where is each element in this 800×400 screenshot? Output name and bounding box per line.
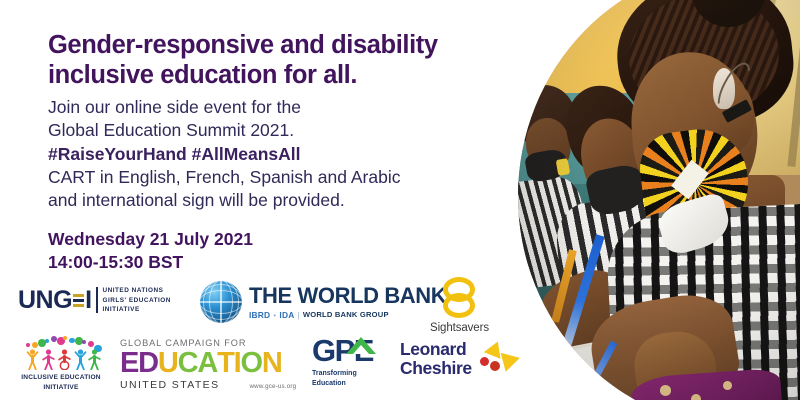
iei-dot xyxy=(51,336,57,342)
logo-inclusive-education-initiative: INCLUSIVE EDUCATION INITIATIVE xyxy=(18,334,104,392)
gpe-wordmark: GPE xyxy=(312,335,373,366)
iei-name-line-2: INITIATIVE xyxy=(21,383,101,393)
accessibility-line-2: and international sign will be provided. xyxy=(48,189,508,212)
photo-canvas xyxy=(498,0,800,400)
world-bank-text: THE WORLD BANK IBRD • IDA | WORLD BANK G… xyxy=(249,284,446,319)
leonard-cheshire-name: Leonard Cheshire xyxy=(400,340,472,377)
ungei-subtitle-line-1: UNITED NATIONS xyxy=(103,286,171,296)
world-bank-ibrd: IBRD xyxy=(249,310,270,320)
accessibility-line-1: CART in English, French, Spanish and Ara… xyxy=(48,166,508,189)
world-bank-ida: IDA xyxy=(279,310,294,320)
event-promo-poster: Gender-responsive and disability inclusi… xyxy=(0,0,800,400)
gce-letter: O xyxy=(241,349,262,378)
logo-ungei: UNGI UNITED NATIONS GIRLS' EDUCATION INI… xyxy=(18,286,171,315)
gce-letter: T xyxy=(217,349,234,378)
ungei-letters: UNG xyxy=(18,288,72,313)
description-line-1: Join our online side event for the xyxy=(48,96,508,119)
gce-letter: A xyxy=(197,349,217,378)
leonard-cheshire-shapes-icon xyxy=(476,341,516,377)
ungei-divider xyxy=(96,287,98,313)
ungei-subtitle-line-2: GIRLS' EDUCATION xyxy=(103,296,171,306)
world-bank-subtitle: IBRD • IDA | WORLD BANK GROUP xyxy=(249,310,446,320)
iei-figure xyxy=(58,349,71,370)
iei-name: INCLUSIVE EDUCATION INITIATIVE xyxy=(21,373,101,392)
event-description: Join our online side event for the Globa… xyxy=(48,96,508,212)
gpe-tagline-line-1: Transforming xyxy=(312,369,357,379)
iei-dot xyxy=(69,338,75,344)
gce-letter: E xyxy=(120,349,138,378)
gce-letter: C xyxy=(178,349,198,378)
ungei-wordmark: UNGI xyxy=(18,288,92,313)
logo-sightsavers: Sightsavers xyxy=(430,277,489,334)
logo-gpe: GPE Transforming Education xyxy=(312,335,373,389)
world-bank-pipe: | xyxy=(297,310,299,320)
gce-letter: U xyxy=(158,349,178,378)
iei-name-line-1: INCLUSIVE EDUCATION xyxy=(21,373,101,383)
iei-figure xyxy=(88,349,101,370)
iei-figure xyxy=(26,349,39,370)
gpe-chevron-icon xyxy=(346,337,376,354)
iei-figure xyxy=(42,349,55,370)
iei-dot xyxy=(82,340,86,344)
iei-dot xyxy=(26,343,30,347)
globe-icon xyxy=(200,281,242,323)
ungei-subtitle: UNITED NATIONS GIRLS' EDUCATION INITIATI… xyxy=(103,286,171,315)
logo-world-bank: THE WORLD BANK IBRD • IDA | WORLD BANK G… xyxy=(200,281,446,323)
iei-dot xyxy=(32,342,38,348)
logo-row-secondary: INCLUSIVE EDUCATION INITIATIVE GLOBAL CA… xyxy=(14,334,524,394)
event-datetime: Wednesday 21 July 2021 14:00-15:30 BST xyxy=(48,228,468,275)
gce-url: www.gce-us.org xyxy=(249,383,296,391)
logo-row-primary: UNGI UNITED NATIONS GIRLS' EDUCATION INI… xyxy=(18,281,518,333)
iei-figure xyxy=(74,349,87,370)
world-bank-group: WORLD BANK GROUP xyxy=(303,310,389,319)
leonard-cheshire-line-1: Leonard xyxy=(400,340,472,359)
ungei-e-glyph xyxy=(73,294,84,307)
hashtags: #RaiseYourHand #AllMeansAll xyxy=(48,143,508,166)
photo-vignette xyxy=(498,0,800,400)
sightsavers-name: Sightsavers xyxy=(430,322,489,334)
world-bank-name: THE WORLD BANK xyxy=(249,284,446,307)
gpe-tagline: Transforming Education xyxy=(312,369,357,389)
logo-global-campaign-for-education: GLOBAL CAMPAIGN FOR EDUCATION UNITED STA… xyxy=(120,338,296,391)
ungei-subtitle-line-3: INITIATIVE xyxy=(103,305,171,315)
world-bank-bullet: • xyxy=(273,310,276,320)
classroom-photo xyxy=(498,0,800,400)
iei-dot xyxy=(45,339,49,343)
gce-letter: D xyxy=(138,349,158,378)
gce-letter: N xyxy=(262,349,282,378)
gce-wordmark: EDUCATION xyxy=(120,349,282,378)
gce-country: UNITED STATES xyxy=(120,379,219,391)
page-title: Gender-responsive and disability inclusi… xyxy=(48,30,488,90)
logo-leonard-cheshire: Leonard Cheshire xyxy=(400,340,516,377)
sightsavers-rings-icon xyxy=(439,277,479,319)
gpe-tagline-line-2: Education xyxy=(312,379,357,389)
gce-letter: I xyxy=(234,349,241,378)
event-date: Wednesday 21 July 2021 xyxy=(48,228,468,251)
iei-dot xyxy=(63,336,67,340)
event-time: 14:00-15:30 BST xyxy=(48,251,468,274)
poster-content: Gender-responsive and disability inclusi… xyxy=(0,0,520,400)
iei-dot xyxy=(88,341,94,347)
description-line-2: Global Education Summit 2021. xyxy=(48,119,508,142)
leonard-cheshire-line-2: Cheshire xyxy=(400,359,472,378)
ungei-letter-i: I xyxy=(85,288,91,313)
iei-figures-icon xyxy=(18,334,104,372)
gce-bottom-row: UNITED STATES www.gce-us.org xyxy=(120,379,296,391)
